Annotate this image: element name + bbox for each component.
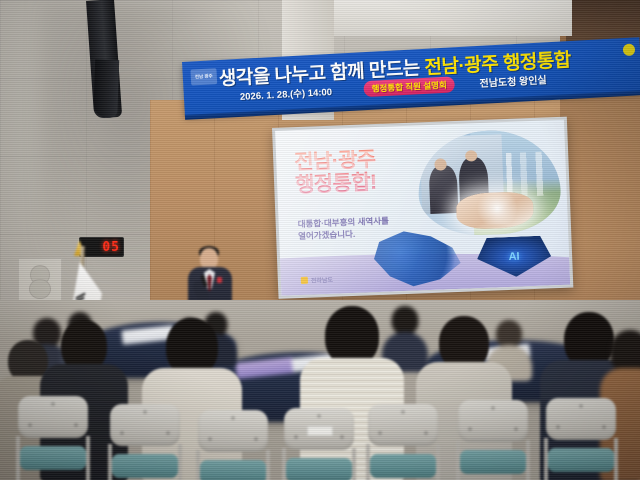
folding-chair: [544, 398, 618, 480]
slide-org-logo: 전라남도: [301, 275, 333, 285]
presenter-head: [200, 248, 218, 269]
folding-chair: [16, 396, 90, 480]
wall-grille-icon: [18, 258, 62, 302]
org-logo-mark-icon: [301, 277, 308, 284]
photo-scene: 05 전남 광주 생각을 나누고 함께 만드는 전남·광주 행정통합 2026.…: [0, 0, 640, 480]
banner-end-logo-icon: [623, 43, 636, 56]
org-logo-label: 전라남도: [311, 275, 333, 285]
presentation-slide: AI 전남·광주 행정통합! 대통합·대부흥의 새역사를 열어가겠습니다. 전라…: [275, 120, 570, 296]
banner-logo-icon: 전남 광주: [190, 68, 217, 85]
slide-title-line2: 행정통합!: [295, 172, 377, 198]
slide-title: 전남·광주 행정통합!: [294, 149, 377, 197]
slide-subtitle: 대통합·대부흥의 새역사를 열어가겠습니다.: [297, 215, 389, 243]
presenter-lapel-badge: [217, 277, 222, 283]
folding-chair: [366, 404, 440, 480]
folding-chair: [456, 400, 530, 480]
slide-subtitle-line2: 열어가겠습니다.: [298, 227, 390, 243]
ai-chip-label: AI: [508, 251, 519, 263]
projection-screen: AI 전남·광주 행정통합! 대통합·대부흥의 새역사를 열어가겠습니다. 전라…: [272, 117, 573, 299]
banner-place: 전남도청 왕인실: [479, 71, 547, 90]
slide-title-line1: 전남·광주: [294, 148, 376, 174]
slide-photo-collage: [416, 128, 562, 237]
handshake-glow: [473, 192, 522, 225]
folding-chair: [108, 404, 182, 480]
folding-chair: [196, 410, 270, 480]
folding-chair: [282, 408, 356, 480]
